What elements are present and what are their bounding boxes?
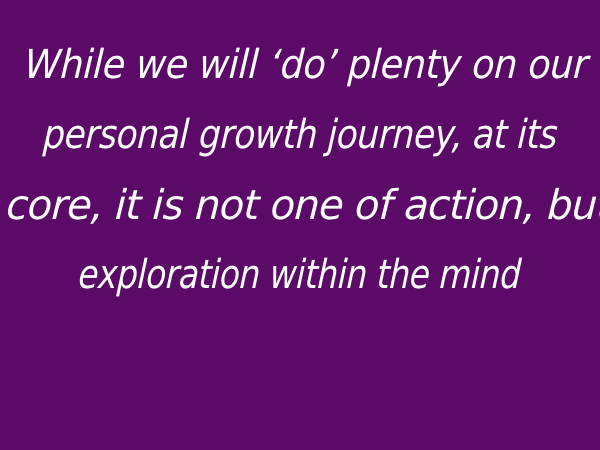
quote-line: personal growth journey, at its [41,100,559,170]
quote-card: While we will ‘do’ plenty on our persona… [0,0,600,450]
quote-line: While we will ‘do’ plenty on our [23,30,590,100]
quote-text-block: While we will ‘do’ plenty on our persona… [0,0,600,310]
quote-line: exploration within the mind [77,240,523,310]
quote-line: core, it is not one of action, but of [5,170,600,240]
